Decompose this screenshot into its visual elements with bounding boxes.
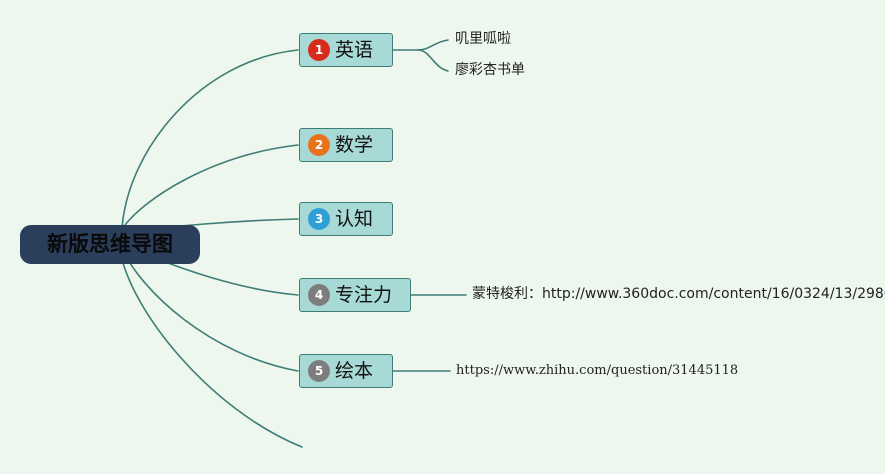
edge-root-to-branch-1 — [122, 50, 298, 228]
branch-node-3[interactable]: 3 认知 — [299, 202, 393, 236]
branch-node-1[interactable]: 1 英语 — [299, 33, 393, 67]
branch-3-label: 认知 — [335, 210, 373, 229]
edge-root-to-branch-6 — [120, 250, 302, 447]
leaf-branch-5-item-1[interactable]: https://www.zhihu.com/question/31445118 — [456, 364, 738, 377]
leaf-branch-4-item-1[interactable]: 蒙特梭利：http://www.360doc.com/content/16/03… — [472, 287, 885, 301]
edge-branch-1-to-leaf-2 — [418, 50, 448, 71]
branch-5-badge: 5 — [308, 360, 330, 382]
branch-4-badge: 4 — [308, 284, 330, 306]
edge-root-to-branch-2 — [122, 145, 298, 229]
branch-node-4[interactable]: 4 专注力 — [299, 278, 411, 312]
branch-5-label: 绘本 — [335, 362, 373, 381]
branch-2-label: 数学 — [335, 136, 373, 155]
root-node[interactable]: 新版思维导图 — [20, 225, 200, 264]
leaf-branch-4-url[interactable]: http://www.360doc.com/content/16/0324/13… — [542, 286, 885, 302]
branch-3-badge: 3 — [308, 208, 330, 230]
root-node-label: 新版思维导图 — [47, 234, 173, 255]
branch-2-badge: 2 — [308, 134, 330, 156]
branch-1-label: 英语 — [335, 41, 373, 60]
branch-node-5[interactable]: 5 绘本 — [299, 354, 393, 388]
mindmap-canvas: 新版思维导图 1 英语 叽里呱啦 廖彩杏书单 2 数学 3 认知 4 专注力 蒙… — [0, 0, 885, 474]
edge-root-to-branch-5 — [122, 248, 298, 371]
branch-1-badge: 1 — [308, 39, 330, 61]
edge-branch-1-to-leaf-1 — [418, 40, 448, 50]
leaf-branch-1-item-2[interactable]: 廖彩杏书单 — [455, 63, 525, 77]
leaf-branch-4-prefix: 蒙特梭利： — [472, 286, 542, 302]
leaf-branch-1-item-1[interactable]: 叽里呱啦 — [455, 32, 511, 46]
branch-4-label: 专注力 — [335, 286, 392, 305]
branch-node-2[interactable]: 2 数学 — [299, 128, 393, 162]
